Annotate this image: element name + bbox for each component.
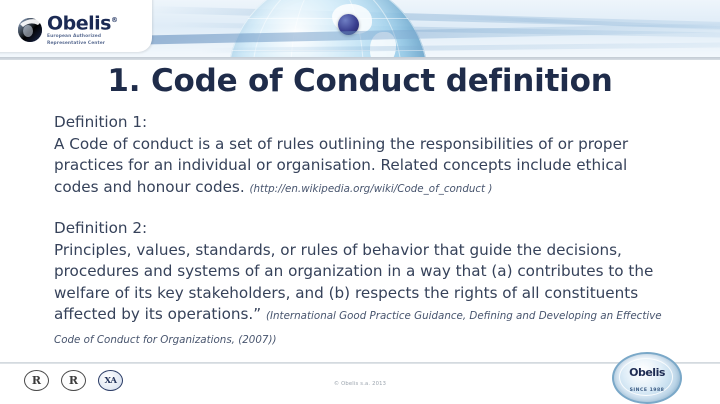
obelis-seal-logo: Obelis SINCE 1988 [612,352,682,404]
logo-tagline-line2: Representative Center [47,41,117,46]
definition-2-text: Principles, values, standards, or rules … [54,240,674,352]
slide-body: Definition 1: A Code of conduct is a set… [54,112,674,351]
globe-parallel-1 [228,18,426,19]
header-divider [0,57,720,60]
obelis-mark-icon [16,14,46,44]
logo-trademark-symbol: ® [111,16,118,24]
seal-since-text: SINCE 1988 [614,388,680,393]
definition-1-label: Definition 1: [54,112,674,134]
slide-title: 1. Code of Conduct definition [0,63,720,99]
logo-wordmark: Obelis® [47,11,117,33]
definition-1-citation: (http://en.wikipedia.org/wiki/Code_of_co… [250,183,493,195]
logo-text-block: Obelis® European Authorized Representati… [47,11,117,46]
obelis-logo: Obelis® European Authorized Representati… [16,11,117,46]
logo-tagline-line1: European Authorized [47,34,117,39]
paragraph-spacer [54,200,674,218]
slide-header-banner: Obelis® European Authorized Representati… [0,0,720,58]
seal-wordmark: Obelis [614,366,680,379]
presentation-slide: Obelis® European Authorized Representati… [0,0,720,404]
definition-1-text: A Code of conduct is a set of rules outl… [54,134,674,201]
definition-2-label: Definition 2: [54,218,674,240]
